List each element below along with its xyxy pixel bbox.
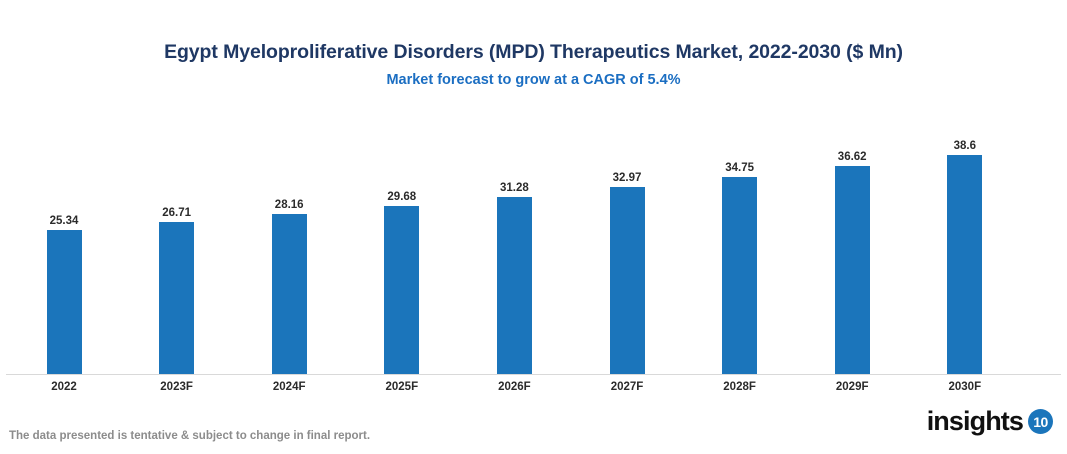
x-axis-tick-label: 2030F — [948, 381, 981, 393]
logo-wordmark: insights — [927, 408, 1023, 435]
bar-rect[interactable] — [272, 214, 307, 374]
bar-value-label: 31.28 — [500, 182, 529, 194]
bar-value-label: 29.68 — [387, 191, 416, 203]
x-axis-tick-label: 2025F — [385, 381, 418, 393]
x-axis-tick-label: 2022 — [51, 381, 77, 393]
bar-2030F[interactable]: 38.6 — [947, 155, 982, 374]
x-axis-tick-label: 2024F — [273, 381, 306, 393]
bar-rect[interactable] — [722, 177, 757, 374]
bar-value-label: 26.71 — [162, 207, 191, 219]
x-axis-tick-label: 2023F — [160, 381, 193, 393]
bar-rect[interactable] — [835, 166, 870, 374]
bar-2027F[interactable]: 32.97 — [610, 187, 645, 374]
bar-rect[interactable] — [47, 230, 82, 374]
bar-chart-plot: 25.34202226.712023F28.162024F29.682025F3… — [0, 0, 1067, 454]
bar-value-label: 28.16 — [275, 199, 304, 211]
bar-rect[interactable] — [159, 222, 194, 374]
chart-page: Egypt Myeloproliferative Disorders (MPD)… — [0, 0, 1067, 454]
x-axis-tick-label: 2028F — [723, 381, 756, 393]
bar-rect[interactable] — [384, 206, 419, 374]
bar-value-label: 34.75 — [725, 162, 754, 174]
bar-2025F[interactable]: 29.68 — [384, 206, 419, 374]
bar-2024F[interactable]: 28.16 — [272, 214, 307, 374]
x-axis-tick-label: 2027F — [611, 381, 644, 393]
bar-2023F[interactable]: 26.71 — [159, 222, 194, 374]
bar-value-label: 36.62 — [838, 151, 867, 163]
bar-value-label: 25.34 — [50, 215, 79, 227]
bar-value-label: 38.6 — [954, 140, 976, 152]
bar-rect[interactable] — [497, 197, 532, 374]
x-axis-tick-label: 2029F — [836, 381, 869, 393]
insights10-logo: insights 10 — [927, 408, 1053, 435]
logo-badge-icon: 10 — [1028, 409, 1053, 434]
bar-value-label: 32.97 — [613, 172, 642, 184]
x-axis-line — [6, 374, 1061, 375]
disclaimer-text: The data presented is tentative & subjec… — [9, 430, 370, 442]
x-axis-tick-label: 2026F — [498, 381, 531, 393]
bar-2022[interactable]: 25.34 — [47, 230, 82, 374]
bar-2028F[interactable]: 34.75 — [722, 177, 757, 374]
bar-2026F[interactable]: 31.28 — [497, 197, 532, 374]
bar-2029F[interactable]: 36.62 — [835, 166, 870, 374]
bar-rect[interactable] — [610, 187, 645, 374]
bar-rect[interactable] — [947, 155, 982, 374]
